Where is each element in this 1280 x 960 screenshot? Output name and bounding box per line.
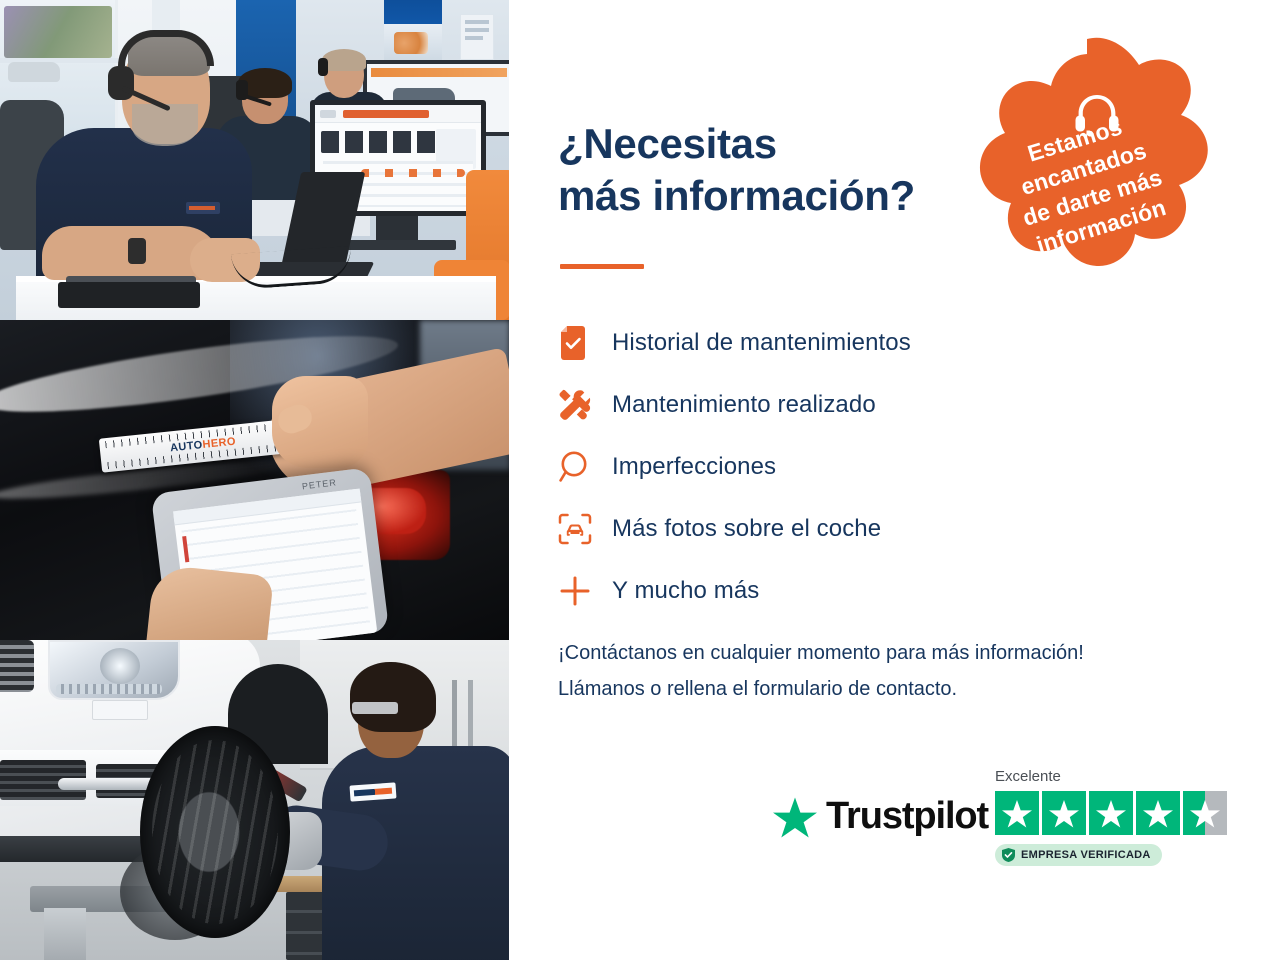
star-box-2 [1042, 791, 1086, 835]
safety-glasses [352, 702, 398, 714]
trustpilot-logo[interactable]: Trustpilot [773, 795, 988, 838]
monitor-foot [344, 240, 456, 250]
trustpilot-rating: Excelente [995, 768, 1245, 867]
page-title-line-2: más información? [558, 172, 915, 219]
car-wheel [140, 726, 290, 938]
contact-line-2: Llámanos o rellena el formulario de cont… [558, 678, 957, 700]
mechanic [322, 662, 509, 960]
feature-item-more-photos: Más fotos sobre el coche [558, 498, 1118, 560]
feature-list: Historial de mantenimientos [558, 312, 1118, 622]
star-rating [995, 791, 1245, 835]
feature-label: Historial de mantenimientos [612, 329, 911, 357]
star-box-3 [1089, 791, 1133, 835]
verified-badge-label: EMPRESA VERIFICADA [1021, 849, 1151, 861]
feature-item-imperfections: Imperfecciones [558, 436, 1118, 498]
polo-logo [186, 202, 220, 214]
content-panel: ¿Necesitas más información? Estamos enca… [509, 0, 1280, 960]
tablet-brand: PETER [301, 477, 337, 491]
shield-check-icon [1002, 848, 1015, 862]
license-plate-area [92, 700, 148, 720]
tablet-holding-hand [146, 564, 274, 640]
feature-label: Mantenimiento realizado [612, 391, 876, 419]
star-box-1 [995, 791, 1039, 835]
lift-column [44, 908, 86, 960]
document-check-icon [558, 326, 612, 360]
wall-notice [460, 14, 494, 60]
car-scan-icon [558, 513, 612, 545]
contact-paragraph: ¡Contáctanos en cualquier momento para m… [558, 635, 1248, 707]
feature-item-maintenance-done: Mantenimiento realizado [558, 374, 1118, 436]
promo-banner: AUTOHERO PETER [0, 0, 1280, 960]
wall-poster-image [384, 24, 442, 62]
title-divider [560, 264, 644, 269]
feature-label: Y mucho más [612, 577, 759, 605]
trustpilot-star-icon [773, 796, 817, 838]
info-badge: Estamos encantados de darte más informac… [955, 35, 1220, 315]
wrist-watch [128, 238, 146, 264]
page-title: ¿Necesitas más información? [558, 118, 988, 222]
feature-item-maintenance-history: Historial de mantenimientos [558, 312, 1118, 374]
contact-line-1: ¡Contáctanos en cualquier momento para m… [558, 642, 1084, 664]
feature-item-much-more: Y mucho más [558, 560, 1118, 622]
feature-label: Más fotos sobre el coche [612, 515, 881, 543]
verified-badge: EMPRESA VERIFICADA [995, 844, 1162, 866]
trustpilot-brand-name: Trustpilot [826, 795, 988, 838]
car-inspection-ruler-photo: AUTOHERO PETER [0, 320, 509, 640]
daytime-running-light [56, 684, 162, 694]
garage-wheel-check-photo [0, 640, 509, 960]
star-box-5-half [1183, 791, 1227, 835]
desk-pad [58, 282, 200, 308]
photo-strip: AUTOHERO PETER [0, 0, 509, 960]
page-title-line-1: ¿Necesitas [558, 120, 777, 167]
trustpilot-block: Trustpilot Excelente [773, 768, 1243, 888]
tools-cross-icon [558, 388, 612, 422]
car-grille [0, 640, 34, 692]
plus-icon [558, 574, 612, 608]
magnifier-icon [558, 450, 612, 484]
mechanic-polo-logo [349, 782, 396, 801]
feature-label: Imperfecciones [612, 453, 776, 481]
star-box-4 [1136, 791, 1180, 835]
call-center-agents-photo [0, 0, 509, 320]
rating-label: Excelente [995, 768, 1245, 785]
